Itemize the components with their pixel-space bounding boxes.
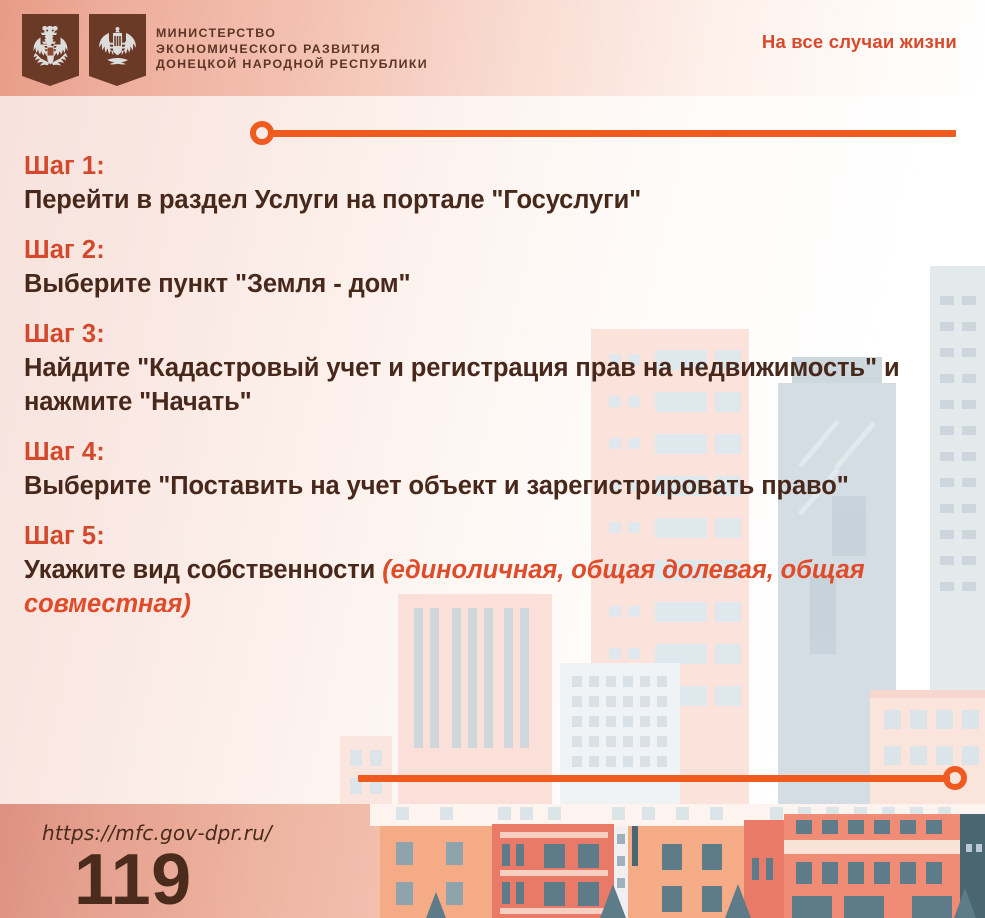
bottom-divider-line — [358, 775, 950, 782]
step-label-1: Шаг 1: — [24, 150, 954, 183]
footer-card-number: 119 — [74, 844, 192, 916]
step-item-1: Шаг 1: Перейти в раздел Услуги на портал… — [24, 150, 954, 217]
step-item-5: Шаг 5: Укажите вид собственности (единол… — [24, 520, 954, 621]
ministry-line-2: ЭКОНОМИЧЕСКОГО РАЗВИТИЯ — [156, 42, 428, 58]
step-label-2: Шаг 2: — [24, 234, 954, 267]
ministry-title: МИНИСТЕРСТВО ЭКОНОМИЧЕСКОГО РАЗВИТИЯ ДОН… — [156, 26, 428, 73]
step-text-1: Перейти в раздел Услуги на портале "Госу… — [24, 183, 942, 217]
ministry-line-3: ДОНЕЦКОЙ НАРОДНОЙ РЕСПУБЛИКИ — [156, 57, 428, 73]
step-item-4: Шаг 4: Выберите "Поставить на учет объек… — [24, 436, 954, 503]
step-text-4: Выберите "Поставить на учет объект и зар… — [24, 469, 942, 503]
footer-cityscape-illustration — [370, 804, 985, 918]
header-tagline: На все случаи жизни — [762, 31, 957, 53]
emblem-group — [22, 14, 146, 86]
step-text-2: Выберите пункт "Земля - дом" — [24, 267, 942, 301]
step-text-5: Укажите вид собственности (единоличная, … — [24, 553, 942, 621]
header-bar: МИНИСТЕРСТВО ЭКОНОМИЧЕСКОГО РАЗВИТИЯ ДОН… — [0, 0, 985, 96]
step-text-5-plain: Укажите вид собственности — [24, 556, 382, 584]
step-text-3: Найдите "Кадастровый учет и регистрация … — [24, 351, 942, 419]
step-label-3: Шаг 3: — [24, 318, 954, 351]
bottom-divider-ring-icon — [943, 766, 967, 790]
step-label-4: Шаг 4: — [24, 436, 954, 469]
top-divider-line — [268, 130, 956, 137]
steps-list: Шаг 1: Перейти в раздел Услуги на портал… — [24, 150, 954, 638]
step-item-2: Шаг 2: Выберите пункт "Земля - дом" — [24, 234, 954, 301]
step-label-5: Шаг 5: — [24, 520, 954, 553]
ministry-line-1: МИНИСТЕРСТВО — [156, 26, 428, 42]
dpr-coat-of-arms-icon — [89, 14, 146, 86]
step-item-3: Шаг 3: Найдите "Кадастровый учет и регис… — [24, 318, 954, 419]
russia-coat-of-arms-icon — [22, 14, 79, 86]
footer-bar: https://mfc.gov-dpr.ru/ 119 — [0, 804, 985, 918]
infographic-poster: МИНИСТЕРСТВО ЭКОНОМИЧЕСКОГО РАЗВИТИЯ ДОН… — [0, 0, 985, 918]
top-divider-ring-icon — [250, 121, 274, 145]
